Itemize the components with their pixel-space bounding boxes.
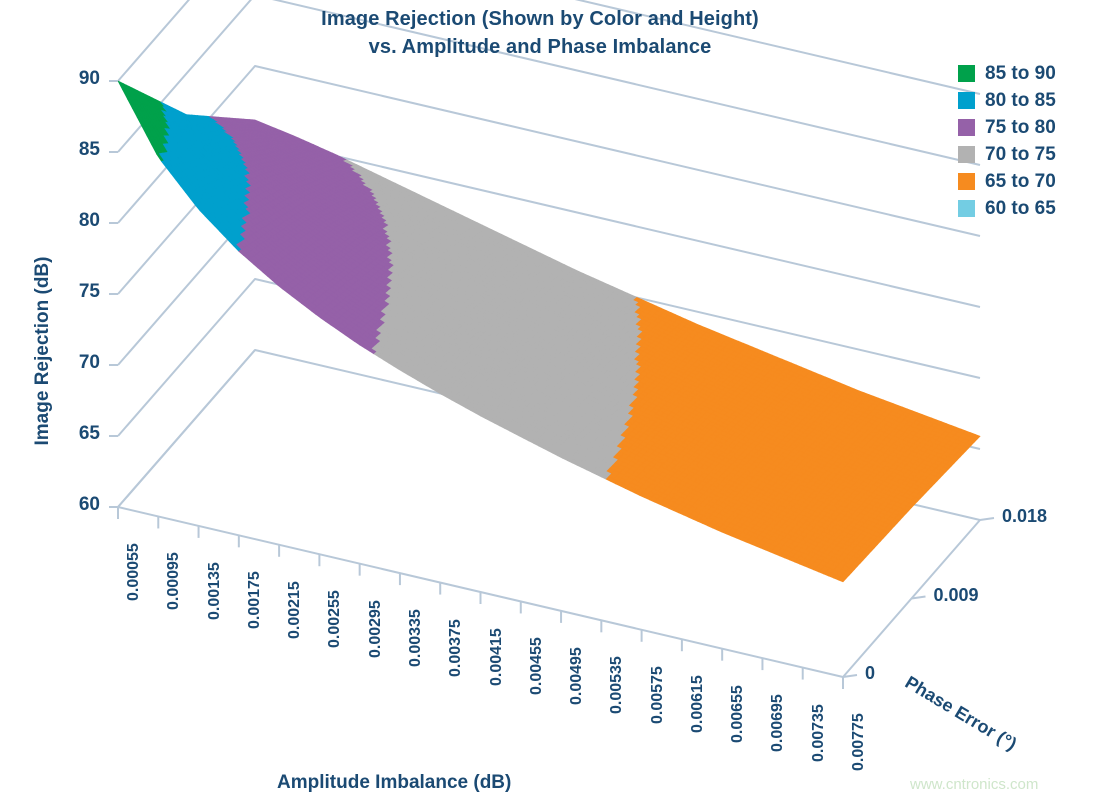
chart-canvas: Image Rejection (Shown by Color and Heig… bbox=[0, 0, 1097, 804]
surface-bands bbox=[118, 81, 980, 582]
